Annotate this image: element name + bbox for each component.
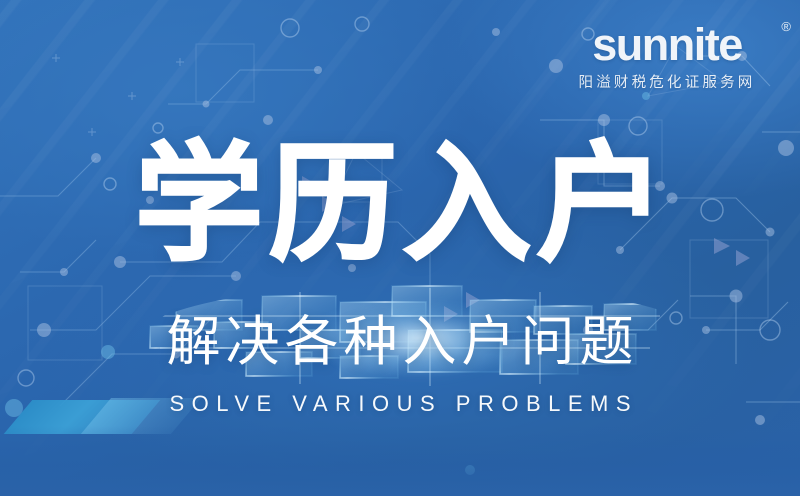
page-title: 学历入户: [0, 138, 800, 272]
english-tagline: SOLVE VARIOUS PROBLEMS: [0, 391, 800, 417]
registered-trademark-icon: ®: [781, 20, 791, 33]
bottom-fade: [0, 426, 800, 496]
brand-logo[interactable]: sunnite ® 阳溢财税危化证服务网: [556, 22, 778, 92]
promo-banner: sunnite ® 阳溢财税危化证服务网 学历入户 解决各种入户问题 SOLVE…: [0, 0, 800, 496]
logo-subtitle: 阳溢财税危化证服务网: [556, 75, 778, 92]
logo-wordmark: sunnite: [556, 22, 778, 68]
subheadline: 解决各种入户问题: [0, 312, 800, 372]
